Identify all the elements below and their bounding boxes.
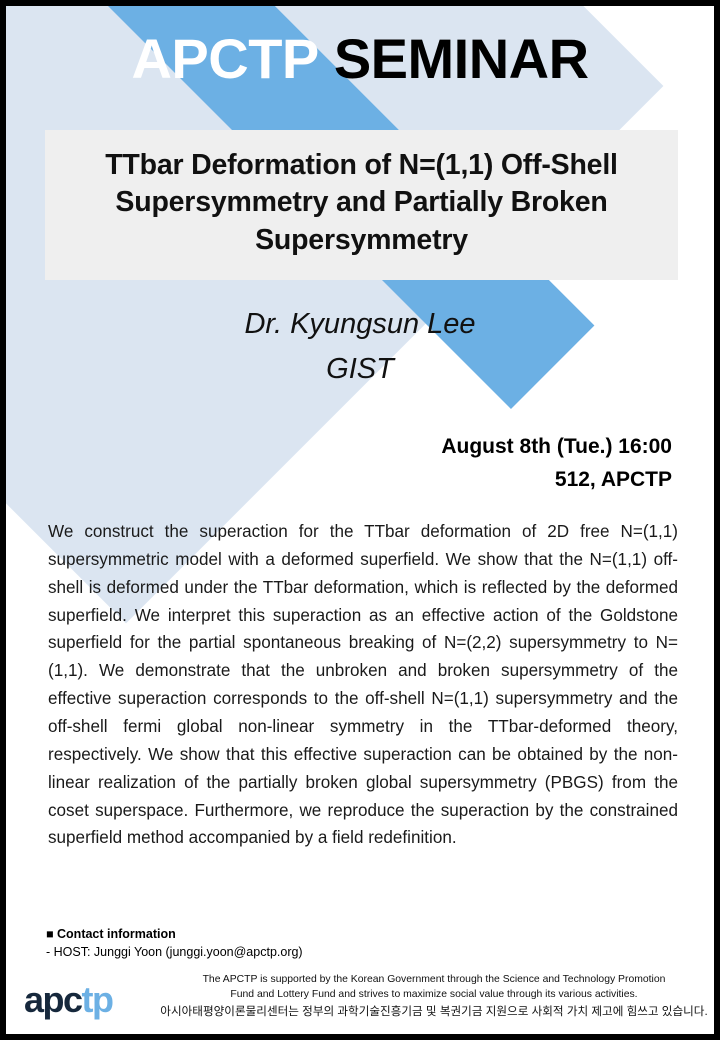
footer-line-1: The APCTP is supported by the Korean Gov… <box>156 973 712 988</box>
speaker-block: Dr. Kyungsun Lee GIST <box>6 302 714 392</box>
header-title: APCTP SEMINAR <box>6 30 714 89</box>
poster-footer: The APCTP is supported by the Korean Gov… <box>156 973 712 1020</box>
apctp-logo: apctp <box>24 982 113 1018</box>
apctp-logo-dark-text: apc <box>24 979 82 1020</box>
poster-page: APCTP SEMINAR TTbar Deformation of N=(1,… <box>6 6 714 1034</box>
footer-line-korean: 아시아태평양이론물리센터는 정부의 과학기술진흥기금 및 복권기금 지원으로 사… <box>156 1003 712 1020</box>
footer-line-2: Fund and Lottery Fund and strives to max… <box>156 988 712 1003</box>
seminar-title: TTbar Deformation of N=(1,1) Off-Shell S… <box>59 147 664 260</box>
seminar-abstract: We construct the superaction for the TTb… <box>48 518 678 852</box>
speaker-name: Dr. Kyungsun Lee <box>6 302 714 347</box>
poster-header: APCTP SEMINAR <box>6 30 714 89</box>
contact-block: ■ Contact information - HOST: Junggi Yoo… <box>46 926 303 962</box>
header-kind-spacer <box>319 27 334 90</box>
contact-heading: ■ Contact information <box>46 926 303 943</box>
apctp-logo-light-text: tp <box>82 979 113 1020</box>
header-kind: SEMINAR <box>334 27 589 90</box>
seminar-datetime: August 8th (Tue.) 16:00 <box>72 430 672 463</box>
header-brand: APCTP <box>131 27 318 90</box>
speaker-affiliation: GIST <box>6 347 714 392</box>
schedule-block: August 8th (Tue.) 16:00 512, APCTP <box>72 430 672 496</box>
seminar-location: 512, APCTP <box>72 463 672 496</box>
seminar-title-band: TTbar Deformation of N=(1,1) Off-Shell S… <box>45 130 678 280</box>
contact-host: - HOST: Junggi Yoon (junggi.yoon@apctp.o… <box>46 943 303 962</box>
seminar-poster: APCTP SEMINAR TTbar Deformation of N=(1,… <box>0 0 720 1040</box>
